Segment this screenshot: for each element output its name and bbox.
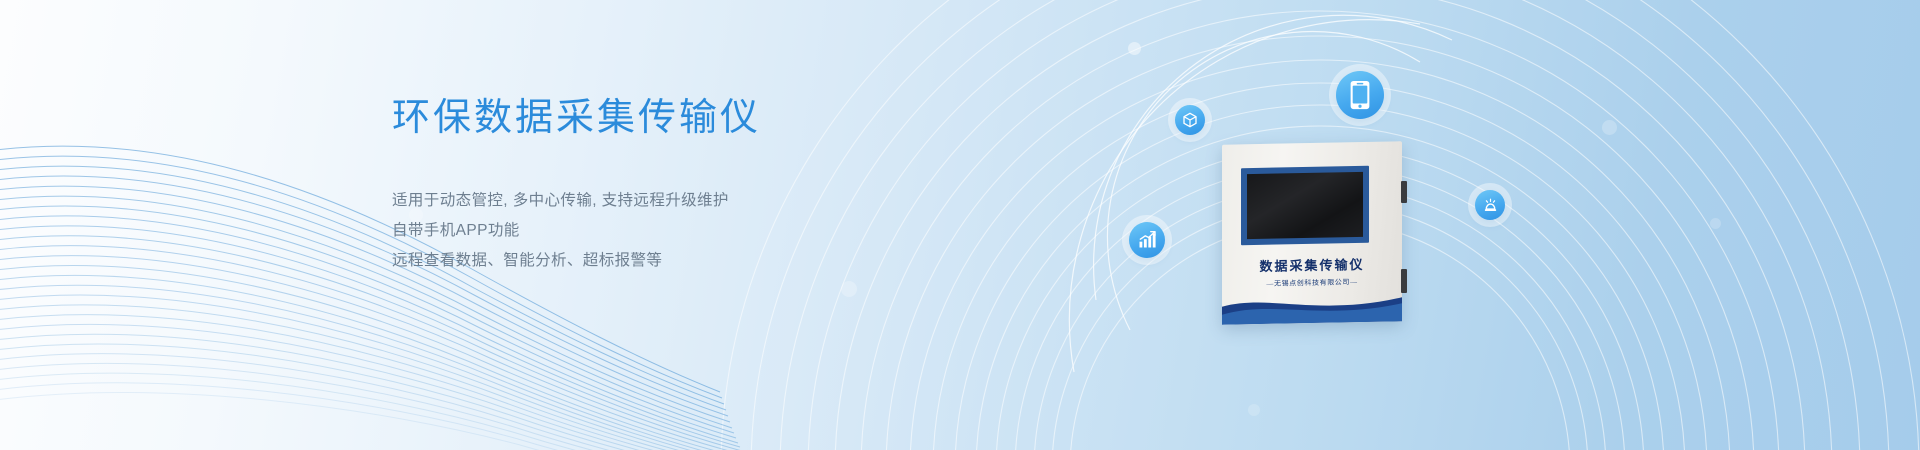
page-title: 环保数据采集传输仪 <box>392 96 912 142</box>
smartphone-icon[interactable] <box>1336 71 1384 119</box>
device-name-label: 数据采集传输仪 <box>1222 253 1402 275</box>
subtitle-line-2: 自带手机APP功能 <box>392 216 912 246</box>
subtitle-line-3: 远程查看数据、智能分析、超标报警等 <box>392 246 912 276</box>
device-screen-bezel <box>1241 166 1369 245</box>
alarm-light-glyph <box>1482 197 1499 214</box>
bar-chart-glyph <box>1137 230 1157 250</box>
device-label-block: 数据采集传输仪 —无锡点创科技有限公司— <box>1222 253 1402 289</box>
bar-chart-icon[interactable] <box>1129 222 1165 258</box>
background-arc-rings <box>0 0 1920 450</box>
device-screen <box>1247 172 1363 239</box>
bokeh-dot <box>1710 218 1721 229</box>
data-acquisition-device: 数据采集传输仪 —无锡点创科技有限公司— <box>1222 143 1402 323</box>
cube-icon[interactable] <box>1175 105 1205 135</box>
device-side-connector-top <box>1401 181 1407 203</box>
subtitle-line-1: 适用于动态管控, 多中心传输, 支持远程升级维护 <box>392 186 912 216</box>
bokeh-dot <box>1248 404 1260 416</box>
smartphone-glyph <box>1349 80 1371 110</box>
bokeh-dot <box>1128 42 1141 55</box>
alarm-light-icon[interactable] <box>1475 190 1505 220</box>
bokeh-dots <box>0 0 1920 450</box>
device-footer-wave <box>1222 285 1402 324</box>
banner-copy: 环保数据采集传输仪 适用于动态管控, 多中心传输, 支持远程升级维护 自带手机A… <box>392 96 912 276</box>
cube-glyph <box>1182 112 1198 128</box>
decorative-wave-lines <box>0 0 1920 450</box>
product-banner: 环保数据采集传输仪 适用于动态管控, 多中心传输, 支持远程升级维护 自带手机A… <box>0 0 1920 450</box>
bokeh-dot <box>841 281 857 297</box>
bokeh-dot <box>1602 120 1617 135</box>
